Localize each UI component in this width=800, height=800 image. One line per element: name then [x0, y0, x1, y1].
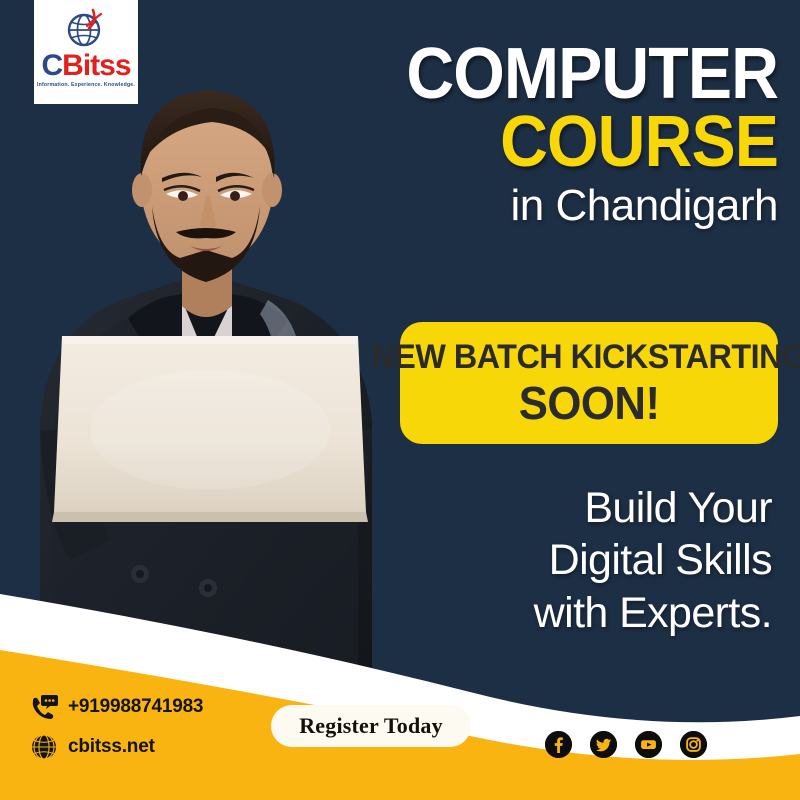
brand-logo: CBitss Information. Experience. Knowledg…	[34, 0, 138, 104]
badge-line-1: NEW BATCH KICKSTARTING	[371, 340, 800, 374]
tagline-line-1: Build Your	[352, 482, 772, 534]
globe-icon	[30, 733, 58, 761]
register-today-label: Register Today	[299, 713, 443, 739]
register-today-button[interactable]: Register Today	[271, 705, 471, 747]
contact-phone-row[interactable]: +919988741983	[30, 693, 203, 721]
social-links	[545, 731, 707, 758]
headline-block: COMPUTER COURSE in Chandigarh	[358, 44, 778, 228]
badge-line-2: SOON!	[519, 380, 660, 426]
poster-canvas: CBitss Information. Experience. Knowledg…	[0, 0, 800, 800]
logo-tagline: Information. Experience. Knowledge.	[37, 82, 135, 88]
facebook-icon[interactable]	[545, 731, 572, 758]
new-batch-badge: NEW BATCH KICKSTARTING SOON!	[400, 322, 778, 444]
logo-letter-c: C	[41, 49, 62, 82]
youtube-icon[interactable]	[635, 731, 662, 758]
website-url: cbitss.net	[68, 736, 155, 758]
contact-website-row[interactable]: cbitss.net	[30, 733, 203, 761]
footer-wave-decoration	[0, 540, 800, 800]
globe-icon	[63, 6, 109, 52]
contact-block: +919988741983 cbitss.net	[30, 693, 203, 761]
instagram-icon[interactable]	[680, 731, 707, 758]
headline-line-2: COURSE	[392, 112, 778, 174]
headline-line-3: in Chandigarh	[358, 184, 778, 228]
twitter-icon[interactable]	[590, 731, 617, 758]
phone-chat-icon	[30, 693, 58, 721]
headline-line-1: COMPUTER	[392, 44, 778, 106]
logo-letters-bitss: Bitss	[62, 49, 130, 82]
phone-number: +919988741983	[68, 696, 203, 718]
logo-wordmark: CBitss	[41, 53, 130, 79]
